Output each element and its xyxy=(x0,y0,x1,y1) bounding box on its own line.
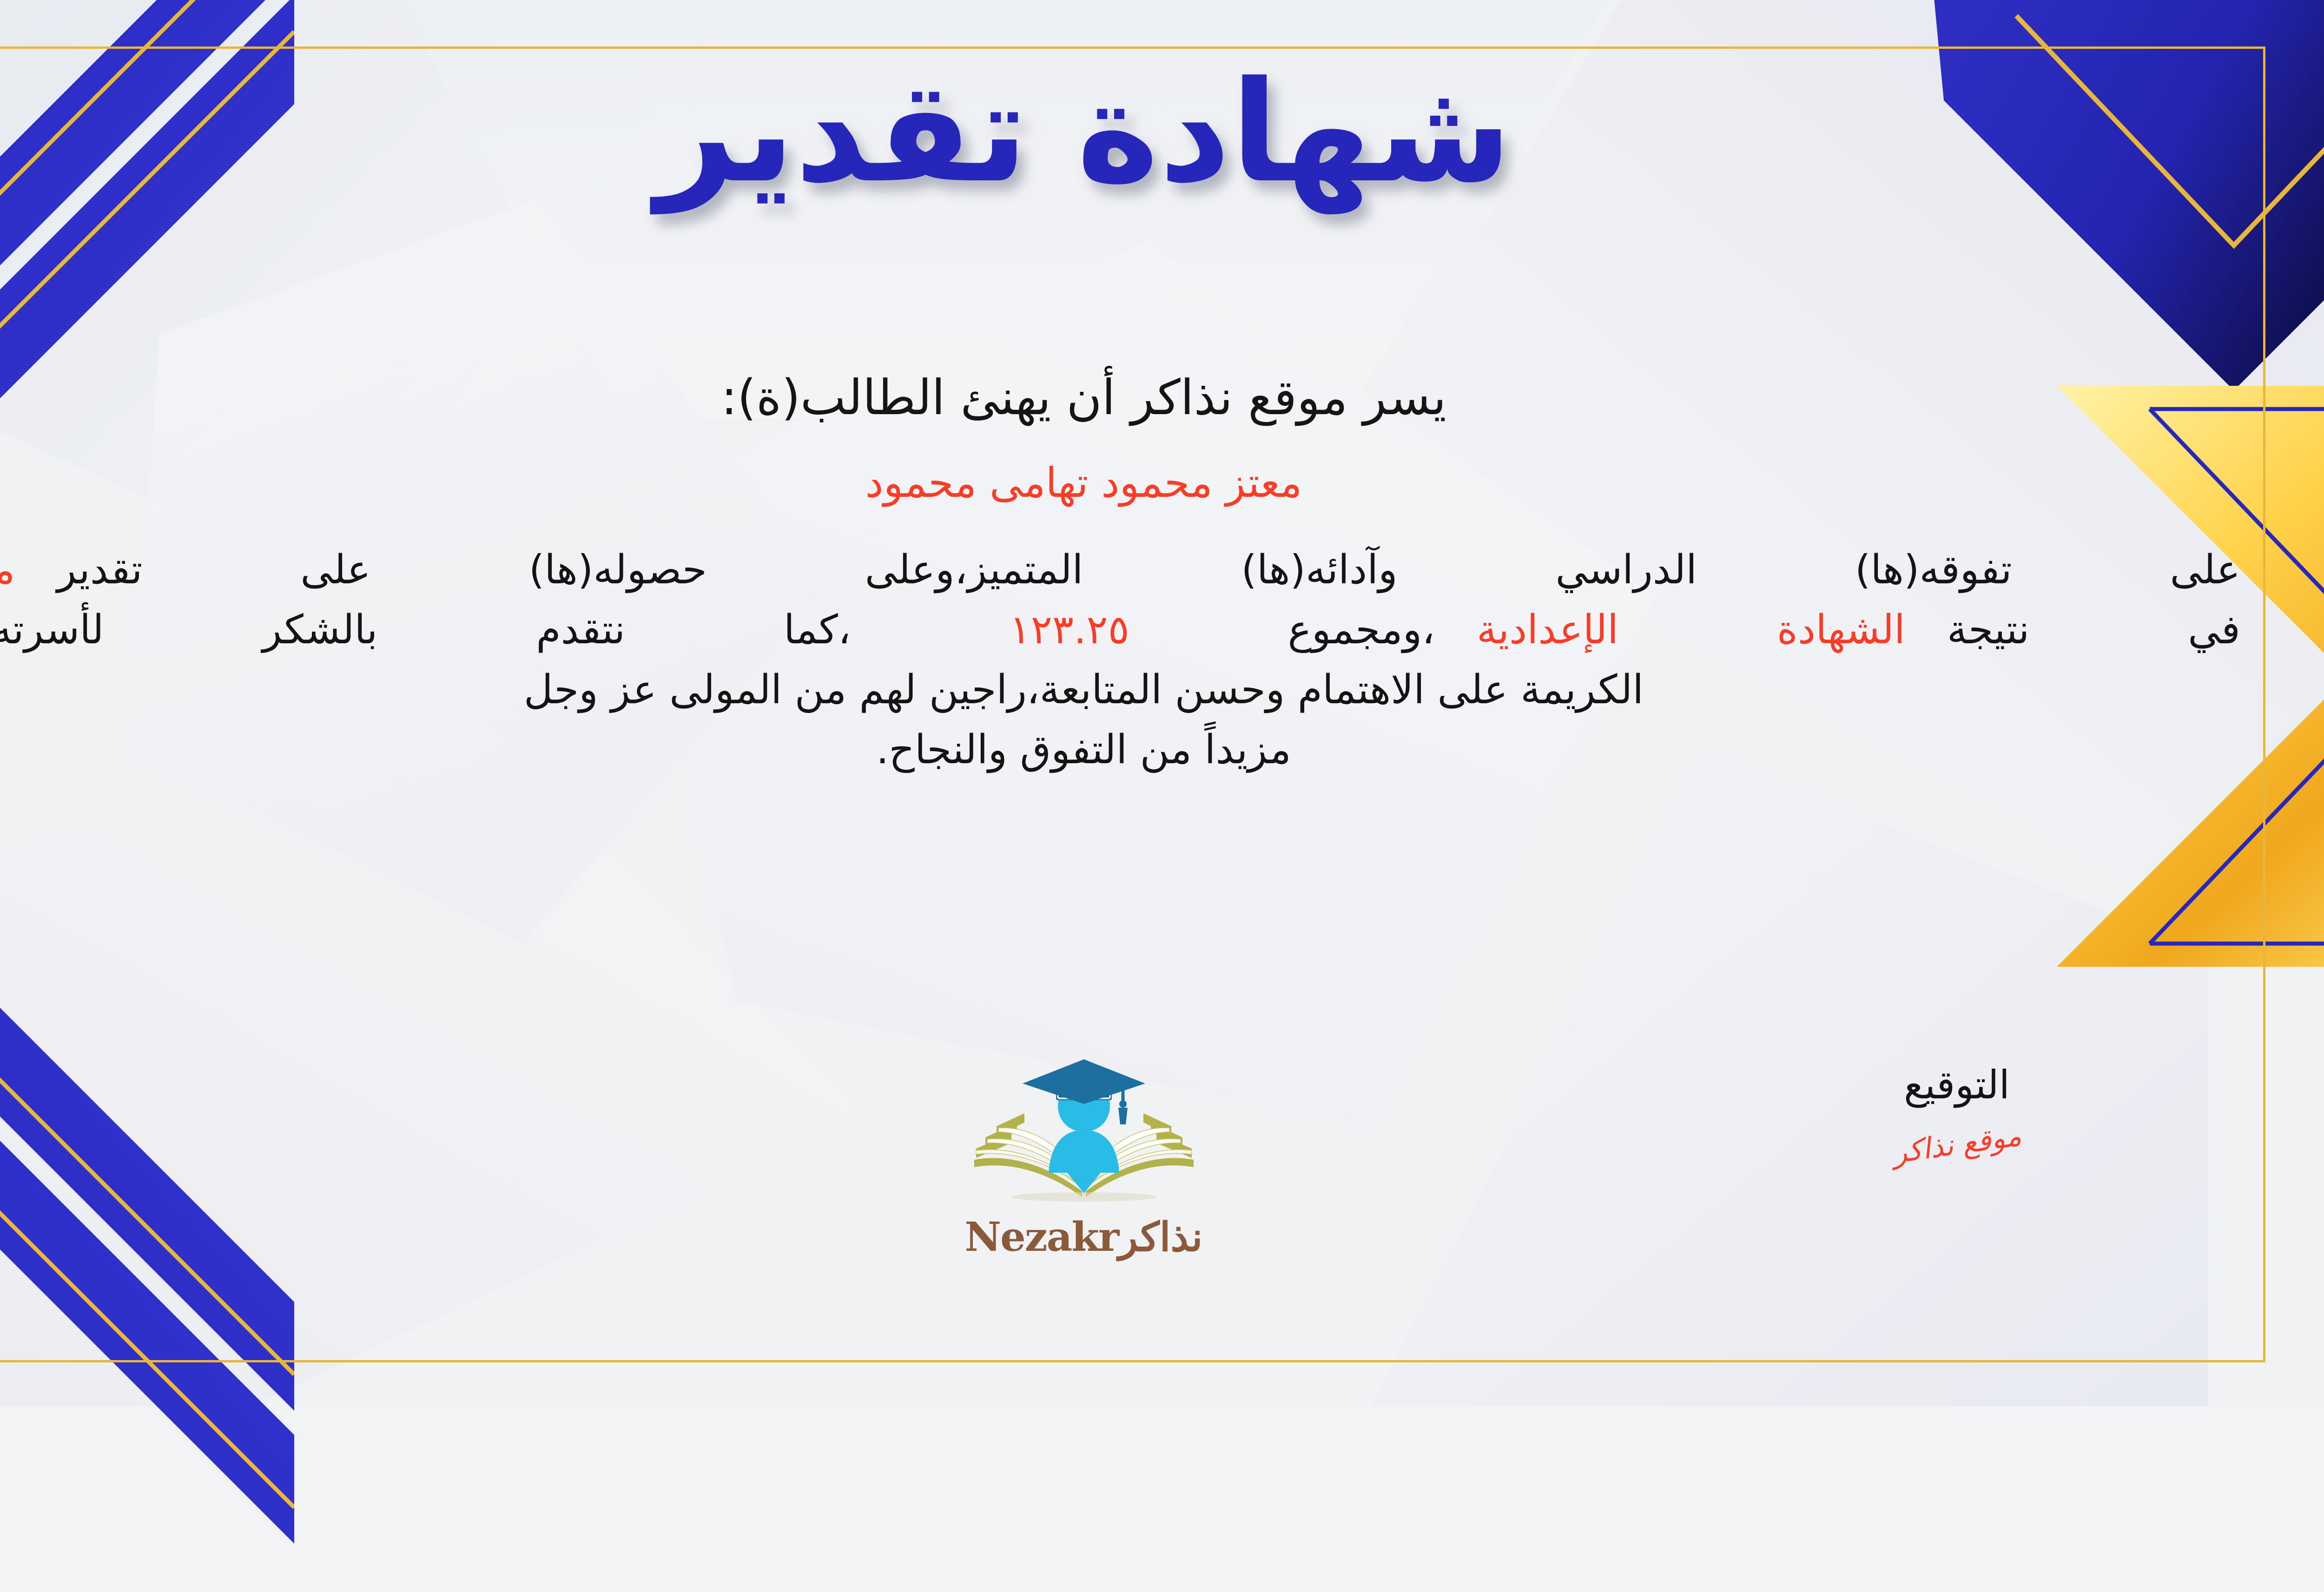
signature-script: موقع نذاكر xyxy=(1890,1118,2023,1170)
certificate-body: يسر موقع نذاكر أن يهنئ الطالب(ة): معتز م… xyxy=(0,367,2240,780)
citation-line-2: في نتيجةالشهادة الإعدادية،ومجموع ١٢٣.٢٥ … xyxy=(0,600,2240,660)
signature-block: التوقيع موقع نذاكر xyxy=(1678,1062,2236,1161)
student-name: معتز محمود تهامى محمود xyxy=(0,458,2240,508)
citation-line-1: على تفوقه(ها) الدراسي وآدائه(ها) المتميز… xyxy=(0,540,2240,600)
signature-label: التوقيع xyxy=(1678,1062,2236,1108)
grade-value: ممتاز xyxy=(0,547,15,593)
brand-name-arabic: نذاكر xyxy=(1118,1214,1202,1261)
exam-name: الشهادة الإعدادية xyxy=(1477,607,1905,653)
brand-name-latin: Nezakr xyxy=(964,1214,1118,1261)
citation-line-2-suffix: ،كما نتقدم بالشكر لأسرته(ها) xyxy=(0,607,851,653)
citation-paragraph: على تفوقه(ها) الدراسي وآدائه(ها) المتميز… xyxy=(0,540,2240,780)
citation-line-3: الكريمة على الاهتمام وحسن المتابعة،راجين… xyxy=(0,660,2240,720)
citation-line-4: مزيداً من التفوق والنجاح. xyxy=(0,720,2240,780)
total-score: ١٢٣.٢٥ xyxy=(1010,607,1129,653)
brand-wordmark: نذاكرNezakr xyxy=(875,1214,1293,1261)
brand-logo: نذاكرNezakr xyxy=(875,1057,1293,1261)
graduation-book-icon xyxy=(963,1057,1205,1211)
citation-line-2-mid: ،ومجموع xyxy=(1288,607,1435,653)
corner-ornament-top-left xyxy=(0,0,294,418)
greeting-line: يسر موقع نذاكر أن يهنئ الطالب(ة): xyxy=(0,367,2240,428)
citation-line-2-prefix: في نتيجة xyxy=(1947,607,2240,653)
citation-line-1-text: على تفوقه(ها) الدراسي وآدائه(ها) المتميز… xyxy=(57,547,2240,593)
certificate-footer: التوقيع موقع نذاكر xyxy=(0,1062,2236,1322)
